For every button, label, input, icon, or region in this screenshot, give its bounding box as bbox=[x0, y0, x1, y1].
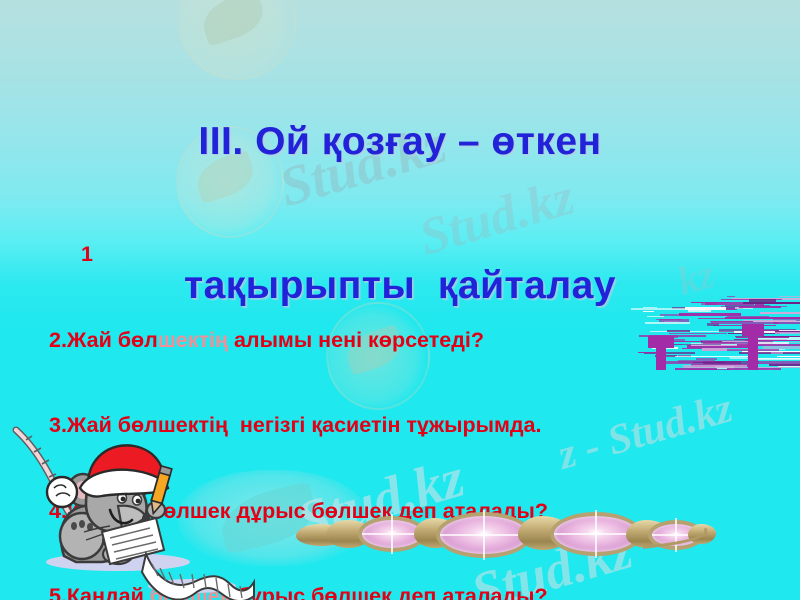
page-title-line-1: III. Ой қозғау – өткен bbox=[0, 118, 800, 166]
gem-ornament-divider bbox=[296, 508, 704, 562]
glitch-artifact bbox=[630, 296, 800, 370]
slide-canvas: Stud.kz Stud.kz Stud.kz Stud.kz z - Stud… bbox=[0, 0, 800, 600]
list-item: 2.Жай бөлшектің алымы нені көрсетеді? bbox=[49, 326, 729, 355]
santa-mouse-illustration bbox=[6, 414, 256, 600]
list-item: 1 bbox=[49, 240, 729, 269]
list-item-text: 2.Жай бөлшектің алымы нені көрсетеді? bbox=[49, 328, 484, 352]
